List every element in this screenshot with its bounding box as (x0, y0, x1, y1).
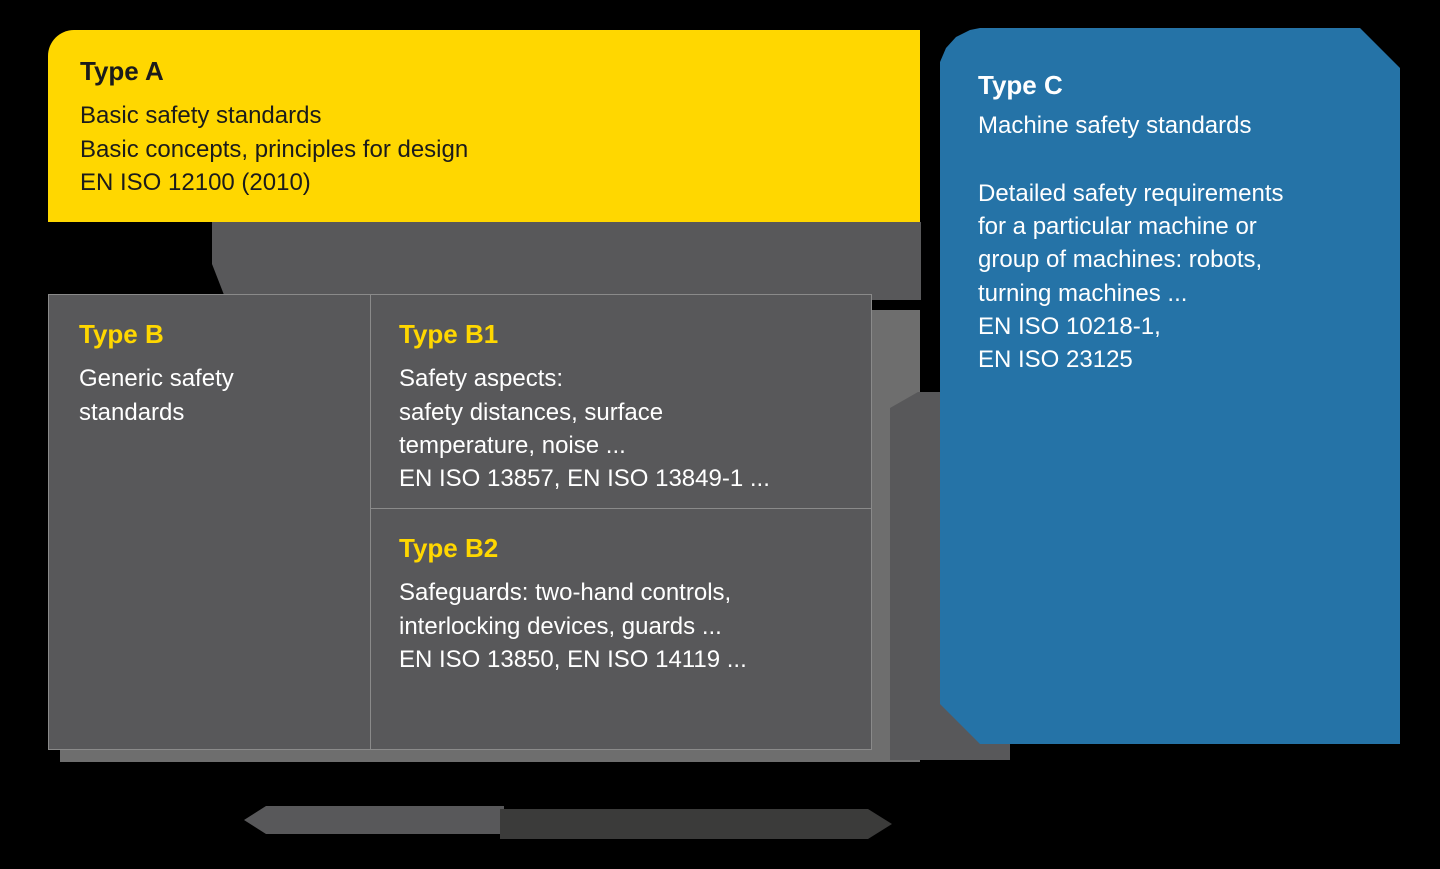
scope-arrow-left-head-icon (244, 806, 504, 834)
type-b1-body: Safety aspects: safety distances, surfac… (399, 362, 871, 495)
type-b2-body: Safeguards: two-hand controls, interlock… (399, 576, 871, 676)
type-b-heading: Type B (79, 321, 370, 348)
type-a-card[interactable]: Type A Basic safety standards Basic conc… (48, 30, 920, 222)
type-b2-heading: Type B2 (399, 535, 871, 562)
type-a-heading: Type A (80, 58, 920, 85)
type-c-subtitle: Machine safety standards (978, 109, 1400, 142)
type-b2-cell[interactable]: Type B2 Safeguards: two-hand controls, i… (371, 509, 871, 749)
type-b-panel[interactable]: Type B Generic safety standards Type B1 … (48, 294, 872, 750)
type-b-cell[interactable]: Type B Generic safety standards (49, 295, 371, 749)
diagram-canvas: Type A Basic safety standards Basic conc… (0, 0, 1440, 869)
scope-arrow-right-head-icon (500, 809, 892, 839)
type-c-card[interactable]: Type C Machine safety standards Detailed… (940, 28, 1400, 744)
type-b1-cell[interactable]: Type B1 Safety aspects: safety distances… (371, 295, 871, 509)
type-a-body: Basic safety standards Basic concepts, p… (80, 99, 920, 199)
type-b-subcells: Type B1 Safety aspects: safety distances… (371, 295, 871, 749)
type-c-body: Detailed safety requirements for a parti… (978, 177, 1400, 377)
type-c-heading: Type C (978, 72, 1400, 99)
type-b-body: Generic safety standards (79, 362, 370, 429)
type-b1-heading: Type B1 (399, 321, 871, 348)
type-a-shadow-connector (212, 222, 921, 300)
